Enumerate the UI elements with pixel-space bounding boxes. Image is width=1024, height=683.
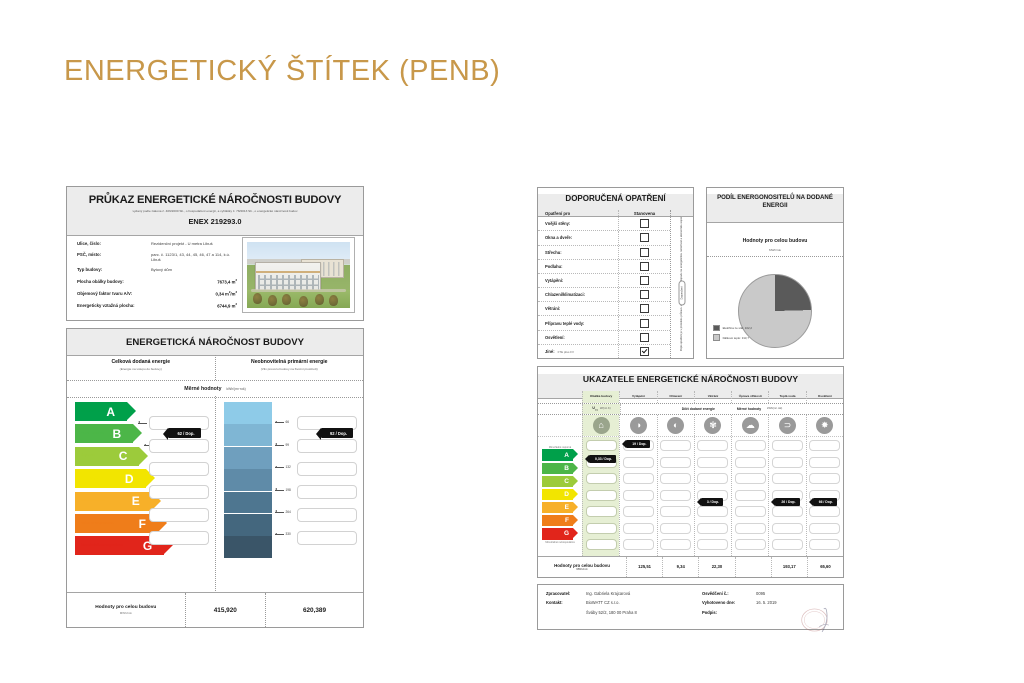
measure-label: Osvětlení: [538, 335, 618, 340]
legend-text: Dálkové teplo: 313,7 [723, 336, 749, 340]
indicator-slot [586, 440, 617, 451]
carriers-unit: MWh/rok [707, 248, 843, 252]
indicator-slot [623, 506, 654, 517]
measure-row: Přípravu teplé vody: [538, 316, 670, 330]
measure-label: Podlahu: [538, 264, 618, 269]
primary-energy-scale: 669913219826433092 / Dop. [215, 396, 364, 593]
indicator-icon-cell-1: ◑ [619, 415, 656, 437]
indicator-marker-3: 3 / Dop. [701, 498, 723, 506]
indicators-title: UKAZATELE ENERGETICKÉ NÁROČNOSTI BUDOVY [538, 374, 843, 384]
fan-icon: ✾ [704, 417, 721, 434]
label-footer-value-left: 415,920 [214, 607, 237, 614]
indicator-slot [735, 506, 766, 517]
measure-row: Osvětlení: [538, 331, 670, 345]
indicator-slot [735, 440, 766, 451]
prukaz-row-label: Energeticky vztažná plocha: [77, 303, 151, 308]
column-title: Celková dodaná energie [67, 359, 215, 365]
indicator-header-5: Teplá voda [768, 391, 805, 403]
faucet-icon: ⊃ [779, 417, 796, 434]
indicator-class-c: C [542, 476, 573, 488]
measure-row: Jiné:FTE přes FV [538, 345, 670, 358]
measure-note: FTE přes FV [558, 350, 574, 354]
prukaz-row: Objemový faktor tvaru A/V:0,34 m2/m3 [77, 290, 237, 296]
energy-class-letter: D [125, 472, 134, 486]
indicator-column-3: 3 / Dop. [694, 437, 731, 556]
prukaz-legal-note: vydaný podle zákona č. 406/2000 Sb., o h… [75, 209, 355, 213]
bulb-icon: ✸ [816, 417, 833, 434]
measure-checkbox-cell [618, 246, 670, 259]
measures-col-stanovena: Stanovena [618, 210, 670, 216]
indicator-sub-envelope: UemW/(m²·K) [582, 404, 620, 414]
energy-class-e: NehospodárnáE [75, 492, 152, 511]
measure-checkbox[interactable] [640, 276, 649, 285]
indicator-marker-1: 19 / Dop. [626, 440, 650, 448]
indicator-slot [735, 473, 766, 484]
indicator-slot [809, 506, 840, 517]
indicator-slot [697, 440, 728, 451]
energy-label-title: ENERGETICKÁ NÁROČNOST BUDOVY [67, 337, 363, 348]
indicators-footer-value-2: 22,30 [698, 557, 734, 577]
primary-energy-band-7 [224, 536, 272, 558]
indicator-class-letter: C [564, 478, 569, 485]
footer-value: Šváby 52/2, 180 00 Praha 8 [586, 610, 637, 615]
delivered-energy-marker: 62 / Dop. [168, 428, 200, 438]
value-slot [149, 508, 209, 522]
measure-label: Přípravu teplé vody: [538, 321, 618, 326]
measure-checkbox-cell [618, 331, 670, 344]
indicator-slot [697, 457, 728, 468]
energy-class-letter: C [119, 449, 128, 463]
indicators-footer-unit: MWh/rok [576, 568, 587, 571]
measure-row: Vytápění: [538, 274, 670, 288]
prukaz-row-label: PSČ, místo: [77, 252, 151, 257]
indicators-icons-spacer [538, 415, 582, 437]
prukaz-row-value: parc. č. 1123/1, 43, 44, 45, 46, 47 a 11… [151, 252, 237, 262]
signature-stamp-icon [795, 603, 839, 637]
footer-value: 0095 [756, 591, 765, 596]
measure-label: Střechu: [538, 250, 618, 255]
house-icon: ⌂ [593, 417, 610, 434]
measures-title: DOPORUČENÁ OPATŘENÍ [538, 194, 693, 203]
indicators-column-headers: Obálka budovyVytápěníChlazeníVětráníÚpra… [538, 391, 843, 404]
indicator-slot [660, 440, 691, 451]
measures-table-header: Opatření pro Stanovena [538, 210, 670, 217]
class-scale-bottom-label: Mimořádně nehospodárná [538, 541, 582, 544]
measure-checkbox-cell [618, 288, 670, 301]
indicator-slot [697, 473, 728, 484]
footer-value: Ing. Gabriela Krajcarová [586, 591, 630, 596]
measure-label: Vnější stěny: [538, 221, 618, 226]
prukaz-row-label: Typ budovy: [77, 267, 151, 272]
carriers-legend-item: Dálkové teplo: 313,7 [713, 334, 752, 341]
uem-unit: W/(m²·K) [600, 407, 611, 410]
energy-class-letter: F [139, 517, 146, 531]
indicators-footer-value-4: 193,17 [771, 557, 807, 577]
prukaz-row: Typ budovy:Bytový dům [77, 267, 237, 272]
merne-label: Měrné hodnoty [737, 407, 761, 411]
indicator-class-d: D [542, 489, 573, 501]
value-slot [297, 462, 357, 476]
indicator-column-4 [731, 437, 768, 556]
indicator-column-5: 26 / Dop. [768, 437, 805, 556]
prukaz-row-label: Ulice, číslo: [77, 241, 151, 246]
indicators-panel: UKAZATELE ENERGETICKÉ NÁROČNOSTI BUDOVY … [537, 366, 844, 578]
indicator-class-f: F [542, 515, 573, 527]
energy-class-name: Velmi úsporná [81, 432, 104, 436]
indicator-slot [623, 473, 654, 484]
value-slot [149, 462, 209, 476]
energy-class-name: Úsporná [81, 454, 95, 458]
footer-row: Kontakt:BioWATT CZ s.r.o. [546, 600, 702, 605]
measure-checkbox[interactable] [640, 248, 649, 257]
measure-label: Jiné:FTE přes FV [538, 349, 618, 354]
indicator-slot [623, 490, 654, 501]
energy-class-letter: A [106, 405, 115, 419]
legend-text: Elektřina ze sítě: 102,2 [723, 326, 752, 330]
building-photo [242, 237, 355, 313]
energy-class-f: Velmi nehospodárnáF [75, 514, 158, 533]
energy-label-column-head: Neobnovitelná primární energie(Vliv prov… [215, 355, 364, 380]
column-subtitle: (Vliv provozu budovy na životní prostřed… [216, 367, 364, 371]
energy-class-name: Mimořádně nehospodárná [81, 544, 123, 548]
prukaz-row: Plocha obálky budovy:7673,4 m2 [77, 278, 237, 284]
indicator-slot [660, 473, 691, 484]
indicators-sub-spacer [538, 404, 582, 414]
indicator-column-0: 0,33 / Dop. [582, 437, 619, 556]
footer-row: Šváby 52/2, 180 00 Praha 8 [546, 610, 702, 615]
indicator-class-letter: A [564, 452, 569, 459]
primary-energy-band-6 [224, 514, 272, 536]
measure-checkbox[interactable] [640, 219, 649, 228]
indicator-icon-cell-6: ✸ [806, 415, 843, 437]
indicator-icon-cell-5: ⊃ [768, 415, 805, 437]
indicator-slot [660, 539, 691, 550]
measure-checkbox-cell [618, 302, 670, 315]
primary-boundary-value: 330 [286, 532, 291, 536]
carriers-subtitle-block: Hodnoty pro celou budovu MWh/rok [707, 223, 843, 257]
indicator-slot [586, 490, 617, 501]
indicator-header-3: Větrání [694, 391, 731, 403]
measure-row: Větrání: [538, 302, 670, 316]
indicators-footer: Hodnoty pro celou budovuMWh/rok125,519,3… [538, 556, 843, 577]
prukaz-row-value: 6744,9 m2 [217, 302, 237, 308]
footer-row: Osvědčení č.:0095 [702, 591, 835, 596]
indicator-class-letter: B [564, 465, 569, 472]
merne-hodnoty-unit: kWh/(m²·rok) [226, 387, 245, 391]
carriers-legend: Elektřina ze sítě: 102,2Dálkové teplo: 3… [713, 325, 752, 344]
primary-boundary-value: 132 [286, 465, 291, 469]
energy-label-column-head: Celková dodaná energie(Energie na vstupu… [67, 355, 215, 380]
measure-label: Vytápění: [538, 278, 618, 283]
indicator-icon-cell-4: ☁ [731, 415, 768, 437]
energy-class-c: ÚspornáC [75, 447, 139, 466]
measure-label: Chlazení/klimatizaci: [538, 292, 618, 297]
legend-swatch [713, 334, 720, 341]
indicator-class-letter: F [565, 517, 569, 524]
primary-energy-band-4 [224, 469, 272, 491]
indicator-class-a: A [542, 449, 573, 461]
energy-class-letter: B [113, 427, 122, 441]
energy-class-name: Nehospodárná [81, 499, 104, 503]
indicator-slot [809, 440, 840, 451]
indicators-footer-value-5: 65,60 [807, 557, 843, 577]
indicator-slot [586, 506, 617, 517]
column-title: Neobnovitelná primární energie [216, 359, 364, 365]
indicator-slot [660, 490, 691, 501]
measures-col-label: Opatření pro [538, 211, 618, 216]
indicator-marker-6: 66 / Dop. [813, 498, 837, 506]
indicators-grid: Mimořádně úspornáABCDEFGMimořádně nehosp… [538, 437, 843, 556]
energy-class-name: Méně úsporná [81, 477, 104, 481]
value-slot [149, 485, 209, 499]
primary-boundary-value: 66 [286, 420, 290, 424]
indicator-marker-0: 0,33 / Dop. [589, 455, 616, 463]
indicator-icon-cell-0: ⌂ [582, 415, 619, 437]
indicator-slot [735, 490, 766, 501]
indicator-header-2: Chlazení [657, 391, 694, 403]
indicators-footer-label: Hodnoty pro celou budovuMWh/rok [538, 557, 626, 577]
primary-energy-band-2 [224, 424, 272, 446]
measure-checkbox[interactable] [640, 262, 649, 271]
indicator-class-letter: G [564, 530, 569, 537]
measure-checkbox[interactable] [640, 304, 649, 313]
measures-side-note-column: Popis opatření je v protokolu průkazu a … [670, 210, 693, 358]
primary-boundary-value: 264 [286, 510, 291, 514]
slide-root: ENERGETICKÝ ŠTÍTEK (PENB) PRŮKAZ ENERGET… [0, 0, 1024, 683]
indicator-slot [772, 440, 803, 451]
indicator-slot [586, 473, 617, 484]
indicator-class-letter: E [565, 504, 569, 511]
value-slot [297, 531, 357, 545]
primary-energy-band-5 [224, 492, 272, 514]
indicators-class-scale: Mimořádně úspornáABCDEFGMimořádně nehosp… [538, 437, 582, 556]
prukaz-row: Energeticky vztažná plocha:6744,9 m2 [77, 302, 237, 308]
indicator-slot [772, 523, 803, 534]
indicator-slot [623, 457, 654, 468]
energy-class-b: Velmi úspornáB [75, 424, 133, 443]
indicator-marker-5: 26 / Dop. [775, 498, 799, 506]
prukaz-panel: PRŮKAZ ENERGETICKÉ NÁROČNOSTI BUDOVY vyd… [66, 186, 364, 321]
indicator-slot [697, 506, 728, 517]
indicator-header-1: Vytápění [619, 391, 656, 403]
footer-right-column: Osvědčení č.:0095Vyhotoveno dne:16. 5. 2… [702, 591, 835, 623]
measures-side-tag: Doporučení [679, 280, 686, 305]
indicator-class-letter: D [564, 491, 569, 498]
energy-carriers-panel: PODÍL ENERGONOSITELŮ NA DODANÉ ENERGII H… [706, 187, 844, 359]
indicator-slot [660, 523, 691, 534]
energy-class-letter: E [132, 494, 140, 508]
indicators-class-col-head [538, 391, 582, 403]
measure-checkbox-cell [618, 231, 670, 244]
measure-label: Větrání: [538, 306, 618, 311]
column-subtitle: (Energie na vstupu do budovy) [67, 367, 215, 371]
measure-checkbox-cell [618, 316, 670, 329]
carriers-title: PODÍL ENERGONOSITELŮ NA DODANÉ ENERGII [707, 194, 843, 210]
prukaz-row-label: Objemový faktor tvaru A/V: [77, 291, 151, 296]
energy-class-d: Méně úspornáD [75, 469, 146, 488]
footer-value: 16. 5. 2019 [756, 600, 777, 605]
indicator-slot [735, 457, 766, 468]
thermometer-icon: ◐ [667, 417, 684, 434]
measure-row: Střechu: [538, 246, 670, 260]
indicator-icon-cell-2: ◐ [657, 415, 694, 437]
indicator-column-2 [657, 437, 694, 556]
carriers-subtitle: Hodnoty pro celou budovu [743, 238, 808, 244]
carriers-legend-item: Elektřina ze sítě: 102,2 [713, 325, 752, 332]
document-footer-panel: Zpracovatel:Ing. Gabriela KrajcarováKont… [537, 584, 844, 630]
prukaz-row-value: 7673,4 m2 [217, 278, 237, 284]
measure-checkbox-cell [618, 274, 670, 287]
measure-row: Chlazení/klimatizaci: [538, 288, 670, 302]
indicators-footer-value-3 [735, 557, 771, 577]
primary-energy-band-3 [224, 447, 272, 469]
primary-boundary-value: 99 [286, 443, 290, 447]
prukaz-info-rows: Ulice, číslo:Rezidenční projekt - U metr… [77, 241, 237, 314]
footer-key: Osvědčení č.: [702, 591, 756, 596]
indicator-class-e: E [542, 502, 573, 514]
indicator-slot [660, 457, 691, 468]
indicator-slot [586, 523, 617, 534]
primary-energy-band-1 [224, 402, 272, 424]
radiator-icon: ◑ [630, 417, 647, 434]
footer-key: Kontakt: [546, 600, 586, 605]
indicator-header-6: Osvětlení [806, 391, 843, 403]
label-footer-caption: Hodnoty pro celou budovu [95, 605, 156, 610]
indicator-slot [772, 506, 803, 517]
indicators-icon-row: ⌂◑◐✾☁⊃✸ [538, 415, 843, 438]
indicator-header-4: Úprava vlhkosti [731, 391, 768, 403]
energy-class-name: Velmi nehospodárná [81, 522, 114, 526]
measure-row: Podlahu: [538, 260, 670, 274]
indicator-sub-dilci: Dílčí dodané energieMěrné hodnotykWh/(m²… [620, 404, 843, 414]
measure-checkbox[interactable] [640, 290, 649, 299]
indicators-footer-value-1: 9,34 [662, 557, 698, 577]
uem-symbol: Uem [592, 406, 598, 412]
indicator-slot [697, 523, 728, 534]
page-title: ENERGETICKÝ ŠTÍTEK (PENB) [64, 55, 500, 88]
footer-value: BioWATT CZ s.r.o. [586, 600, 620, 605]
value-slot [297, 508, 357, 522]
indicator-slot [623, 539, 654, 550]
indicator-slot [772, 539, 803, 550]
indicator-slot [735, 523, 766, 534]
value-slot [297, 485, 357, 499]
footer-key [546, 610, 586, 615]
indicator-slot [623, 523, 654, 534]
label-footer-unit: MWh/rok [120, 611, 132, 615]
prukaz-row: Ulice, číslo:Rezidenční projekt - U metr… [77, 241, 237, 246]
indicator-slot [772, 457, 803, 468]
indicator-slot [809, 523, 840, 534]
energy-class-a: Mimořádně úspornáA [75, 402, 127, 421]
footer-key: Podpis: [702, 610, 756, 615]
delivered-energy-scale: Mimořádně úspornáA48Velmi úspornáB72Úspo… [67, 396, 215, 593]
prukaz-row-label: Plocha obálky budovy: [77, 279, 151, 284]
measure-checkbox[interactable] [640, 319, 649, 328]
indicators-footer-value-0: 125,51 [626, 557, 662, 577]
prukaz-title: PRŮKAZ ENERGETICKÉ NÁROČNOSTI BUDOVY [67, 194, 363, 206]
value-slot [149, 439, 209, 453]
indicator-slot [772, 473, 803, 484]
prukaz-row-value: Bytový dům [151, 267, 172, 272]
indicators-subheaders: UemW/(m²·K)Dílčí dodané energieMěrné hod… [538, 404, 843, 415]
primary-boundary-value: 198 [286, 488, 291, 492]
recommended-measures-panel: DOPORUČENÁ OPATŘENÍ Opatření pro Stanove… [537, 187, 694, 359]
humidity-icon: ☁ [742, 417, 759, 434]
indicator-slot [809, 457, 840, 468]
value-slot [149, 531, 209, 545]
carriers-header: PODÍL ENERGONOSITELŮ NA DODANÉ ENERGII [707, 194, 843, 223]
energy-label-panel: ENERGETICKÁ NÁROČNOST BUDOVY Celková dod… [66, 328, 364, 628]
indicator-slot [586, 539, 617, 550]
measure-label: Okna a dveře: [538, 235, 618, 240]
energy-label-header: ENERGETICKÁ NÁROČNOST BUDOVY [67, 329, 363, 356]
footer-left-column: Zpracovatel:Ing. Gabriela KrajcarováKont… [546, 591, 702, 623]
merne-unit: kWh/(m²·rok) [767, 407, 782, 410]
measure-row: Okna a dveře: [538, 231, 670, 245]
label-footer-value-right: 620,389 [303, 607, 326, 614]
measure-checkbox[interactable] [640, 233, 649, 242]
indicator-header-0: Obálka budovy [582, 391, 619, 403]
footer-row: Zpracovatel:Ing. Gabriela Krajcarová [546, 591, 702, 596]
measure-checkbox-cell [618, 260, 670, 273]
prukaz-row: PSČ, místo:parc. č. 1123/1, 43, 44, 45, … [77, 252, 237, 262]
footer-key: Zpracovatel: [546, 591, 586, 596]
measure-checkbox-cell [618, 345, 670, 358]
measure-checkbox-cell [618, 217, 670, 230]
measure-row: Vnější stěny: [538, 217, 670, 231]
indicator-slot [809, 473, 840, 484]
prukaz-code: ENEX 219293.0 [67, 217, 363, 226]
value-slot [297, 439, 357, 453]
prukaz-row-value: Rezidenční projekt - U metra Libuš [151, 241, 213, 246]
indicator-slot [735, 539, 766, 550]
merne-hodnoty-label: Měrné hodnoty [184, 386, 221, 392]
indicator-icon-cell-3: ✾ [694, 415, 731, 437]
indicator-slot [697, 539, 728, 550]
indicator-column-6: 66 / Dop. [806, 437, 843, 556]
indicator-column-1: 19 / Dop. [619, 437, 656, 556]
indicator-class-g: G [542, 528, 573, 540]
primary-energy-marker: 92 / Dop. [321, 428, 353, 438]
footer-key: Vyhotoveno dne: [702, 600, 756, 605]
dilci-label: Dílčí dodané energie [682, 407, 715, 411]
indicator-slot [660, 506, 691, 517]
legend-swatch [713, 325, 720, 332]
indicator-class-b: B [542, 463, 573, 475]
energy-label-footer: Hodnoty pro celou budovu MWh/rok 415,920… [67, 592, 363, 627]
prukaz-row-value: 0,34 m2/m3 [215, 290, 237, 296]
energy-label-columns: Celková dodaná energie(Energie na vstupu… [67, 355, 363, 381]
measure-checkbox[interactable] [640, 333, 649, 342]
indicator-slot [809, 539, 840, 550]
measure-checkbox[interactable] [640, 347, 649, 356]
